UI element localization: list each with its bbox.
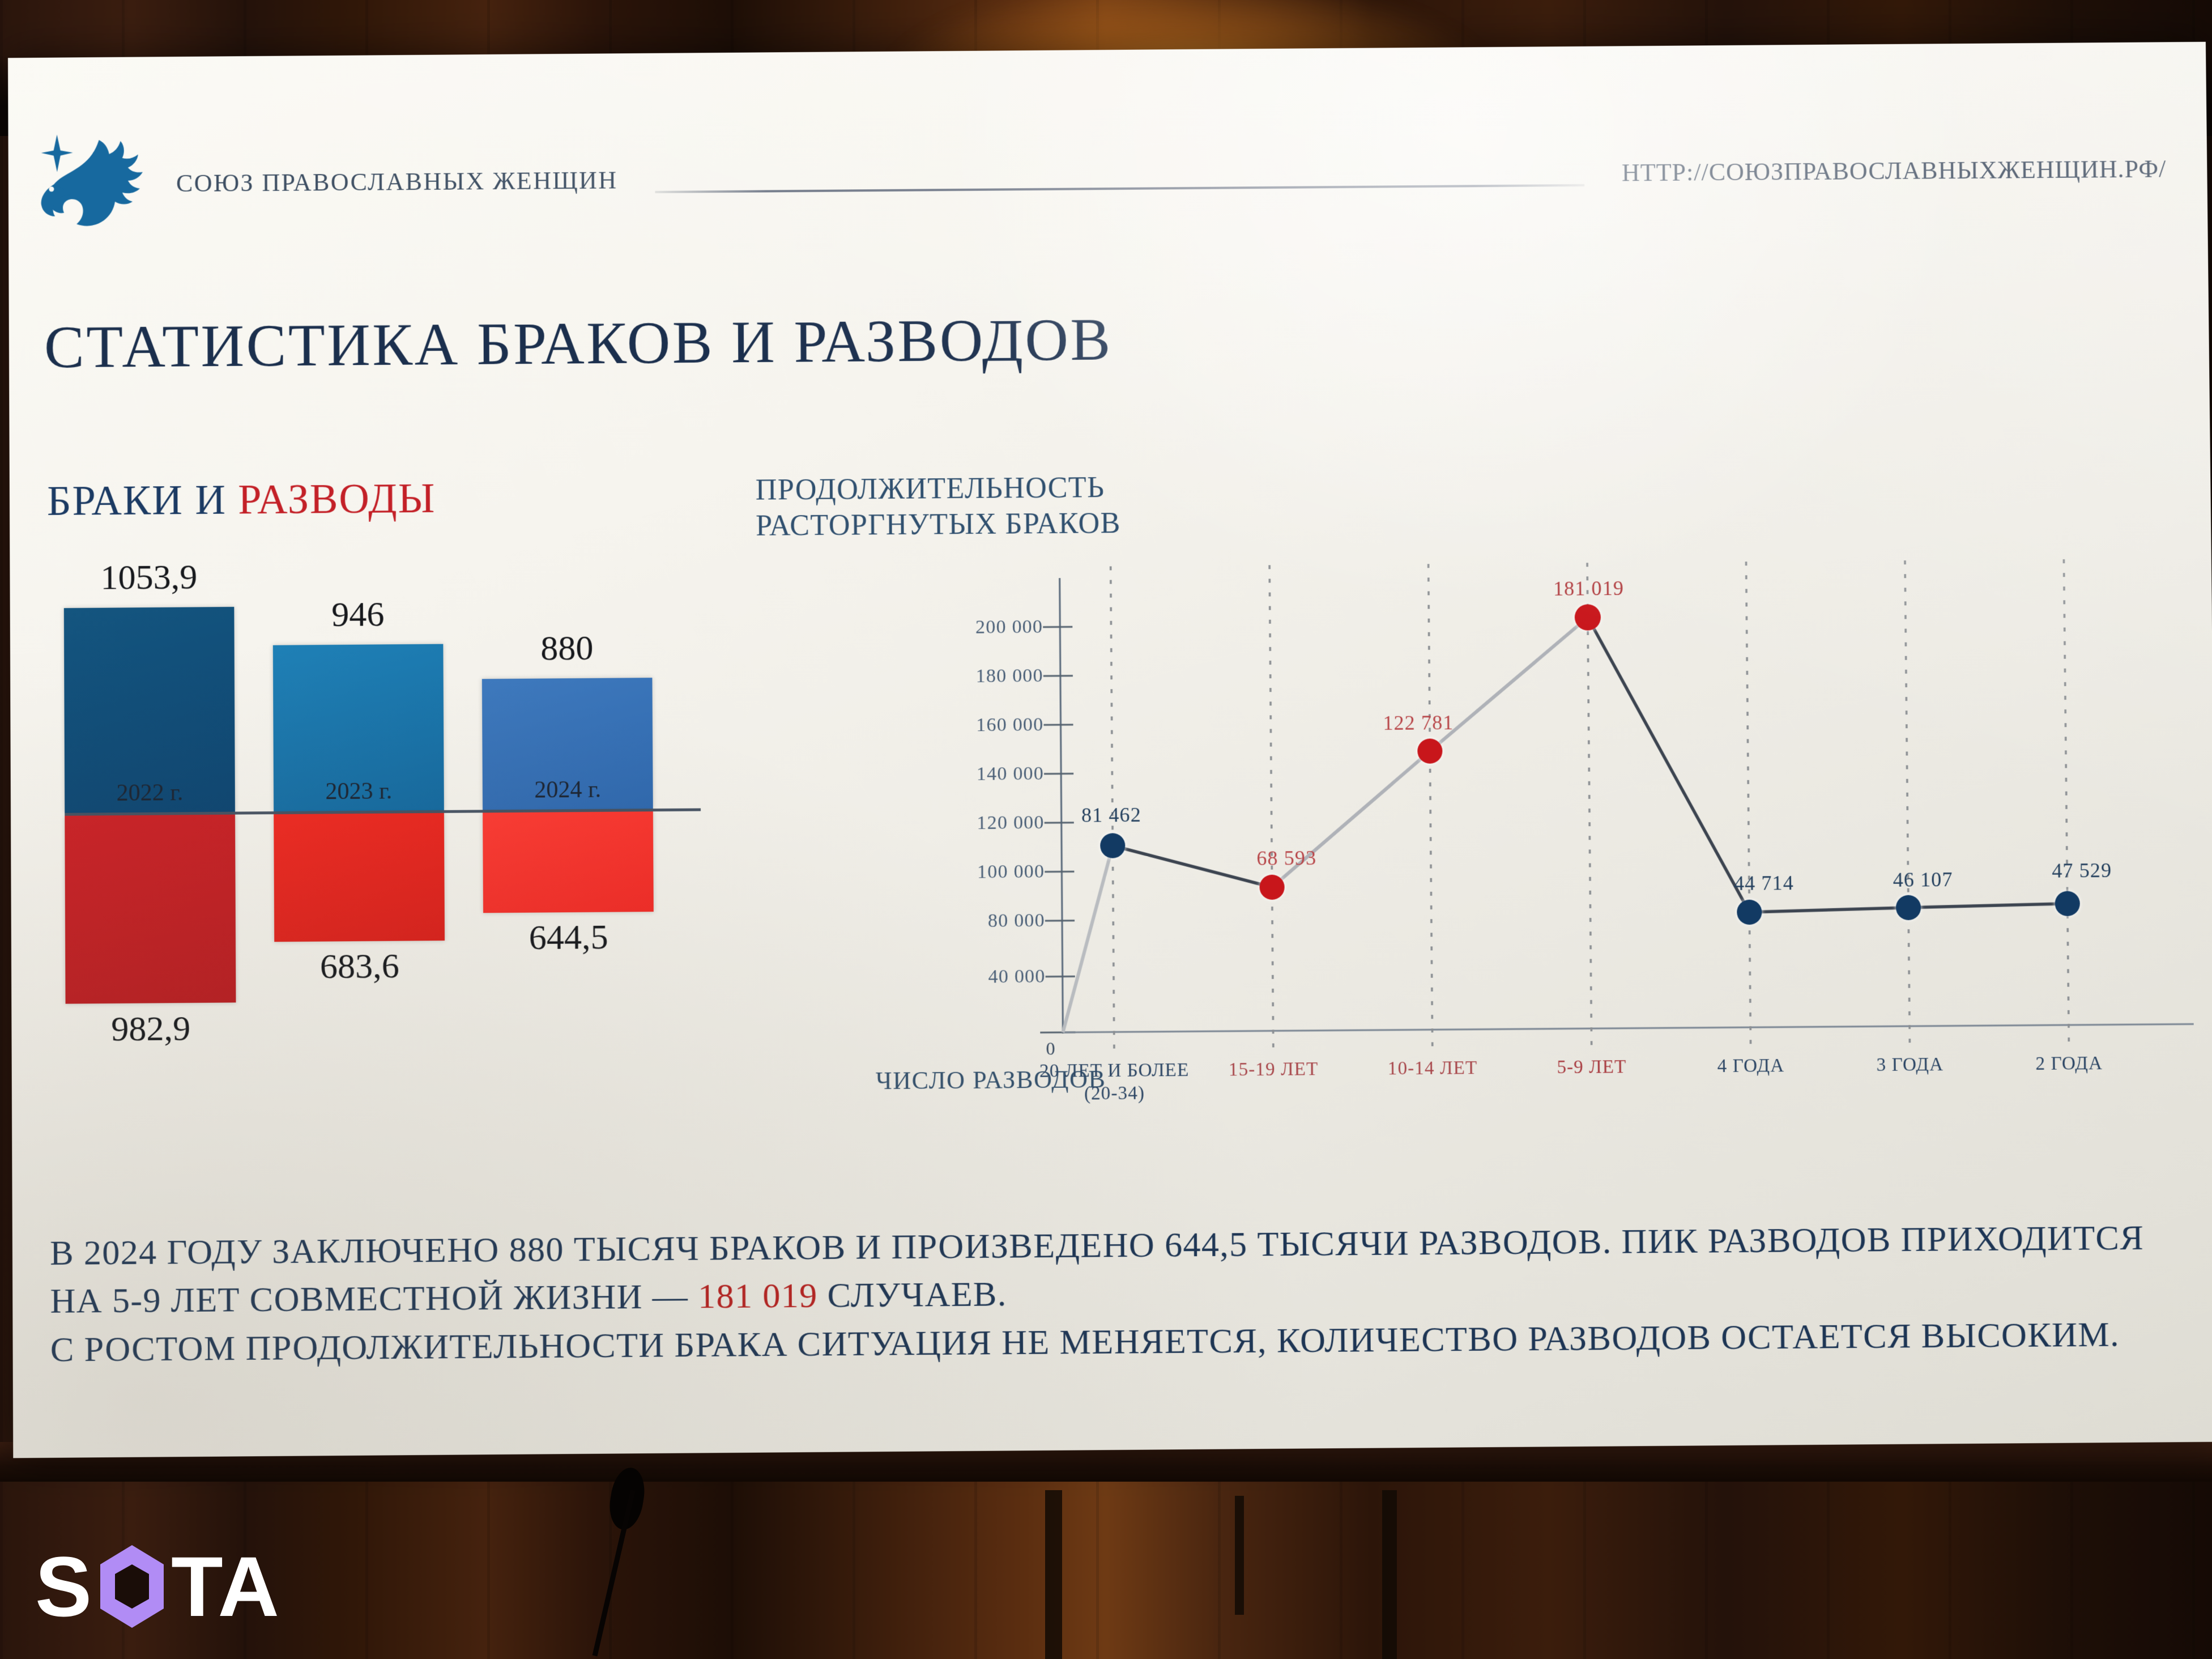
x-label-3-goda: 3 ГОДА (1876, 1053, 1944, 1077)
x-label-5-9-let: 5-9 ЛЕТ (1557, 1056, 1626, 1079)
x-label-2-goda: 2 ГОДА (2035, 1052, 2103, 1075)
bar-divorces-2024 (483, 811, 654, 913)
data-point-4-goda (1737, 900, 1762, 925)
data-point-10-14-let (1417, 738, 1442, 764)
data-point-2-goda (2055, 891, 2080, 916)
data-point-3-goda (1896, 895, 1921, 921)
data-label-10-14-let: 122 781 (1383, 711, 1454, 735)
data-point-20-let-i-bolee (1100, 833, 1125, 858)
projection-screen: СОЮЗ ПРАВОСЛАВНЫХ ЖЕНЩИН HTTP://СОЮЗПРАВ… (8, 42, 2212, 1458)
data-label-4-goda: 44 714 (1734, 871, 1794, 895)
bar-chart-heading: БРАКИ И РАЗВОДЫ (47, 475, 436, 526)
line-chart-plot (872, 547, 2195, 1131)
photo-of-projected-slide: СОЮЗ ПРАВОСЛАВНЫХ ЖЕНЩИН HTTP://СОЮЗПРАВ… (0, 0, 2212, 1659)
bar-value-marriages-2023: 946 (272, 594, 443, 635)
wall-pipe-right (1382, 1490, 1397, 1659)
bar-value-marriages-2022: 1053,9 (63, 557, 234, 598)
data-point-15-19-let (1259, 875, 1284, 900)
data-label-15-19-let: 68 593 (1256, 846, 1316, 870)
sota-letters-ta: TA (171, 1544, 280, 1629)
bar-chart-heading-red: РАЗВОДЫ (238, 475, 436, 524)
x-label-10-14-let: 10-14 ЛЕТ (1388, 1057, 1478, 1081)
marriages-divorces-bar-chart: 1053,9 982,9 946 683,6 880 644,5 2022 г. (64, 564, 702, 1081)
conclusion-text: В 2024 ГОДУ ЗАКЛЮЧЕНО 880 ТЫСЯЧ БРАКОВ И… (50, 1214, 2189, 1374)
data-label-2-goda: 47 529 (2052, 858, 2112, 883)
site-url: HTTP://СОЮЗПРАВОСЛАВНЫХЖЕНЩИН.РФ/ (1622, 154, 2167, 187)
bar-value-divorces-2024: 644,5 (483, 917, 654, 959)
x-label-15-19-let: 15-19 ЛЕТ (1229, 1058, 1319, 1082)
conclusion-segment-3: СЛУЧАЕВ. (817, 1275, 1007, 1315)
bar-axis-label-2024: 2024 г. (483, 776, 653, 804)
x-label-20-let-i-bolee: 20 ЛЕТ И БОЛЕЕ (20-34) (1039, 1059, 1190, 1106)
wall-hook (1235, 1496, 1244, 1615)
line-chart-heading-line2: РАСТОРГНУТЫХ БРАКОВ (756, 505, 1121, 544)
bar-value-divorces-2023: 683,6 (274, 946, 445, 988)
data-label-20-let-i-bolee: 81 462 (1081, 803, 1141, 827)
header-divider (655, 184, 1585, 193)
bar-divorces-2022 (65, 815, 236, 1004)
sota-hexagon-icon (99, 1544, 165, 1629)
bar-axis-label-2022: 2022 г. (65, 779, 235, 807)
x-label-20-let-i-bolee-line2: (20-34) (1039, 1082, 1189, 1105)
x-label-4-goda: 4 ГОДА (1717, 1054, 1784, 1078)
bar-chart-heading-blue: БРАКИ И (47, 477, 238, 525)
slide-content: СОЮЗ ПРАВОСЛАВНЫХ ЖЕНЩИН HTTP://СОЮЗПРАВ… (8, 42, 2212, 1458)
bar-axis-label-2023: 2023 г. (274, 777, 444, 806)
brand-name: СОЮЗ ПРАВОСЛАВНЫХ ЖЕНЩИН (176, 165, 618, 198)
bar-group-2023: 946 683,6 (272, 565, 443, 567)
data-point-5-9-let (1575, 604, 1601, 631)
bar-group-2024: 880 644,5 (481, 564, 651, 565)
conclusion-line-3: С РОСТОМ ПРОДОЛЖИТЕЛЬНОСТИ БРАКА СИТУАЦИ… (50, 1310, 2189, 1374)
divorce-duration-line-chart: 200 000 180 000 160 000 140 000 120 000 … (872, 547, 2195, 1131)
sota-letter-s: S (35, 1544, 93, 1629)
sota-watermark: S TA (35, 1544, 280, 1629)
x-label-20-let-i-bolee-line1: 20 ЛЕТ И БОЛЕЕ (1039, 1059, 1189, 1083)
conclusion-highlight-number: 181 019 (698, 1277, 818, 1316)
bar-divorces-2023 (274, 813, 445, 942)
bar-group-2022: 1053,9 982,9 (64, 567, 235, 568)
dove-star-icon (31, 129, 161, 238)
conclusion-segment-1: В 2024 ГОДУ ЗАКЛЮЧЕНО 880 ТЫСЯЧ БРАКОВ И… (50, 1218, 2144, 1321)
bar-value-divorces-2022: 982,9 (66, 1008, 236, 1050)
bar-value-marriages-2024: 880 (481, 628, 652, 669)
line-chart-heading-line1: ПРОДОЛЖИТЕЛЬНОСТЬ (756, 470, 1121, 508)
slide-header: СОЮЗ ПРАВОСЛАВНЫХ ЖЕНЩИН HTTP://СОЮЗПРАВ… (8, 114, 2207, 239)
data-label-5-9-let: 181 019 (1553, 576, 1624, 601)
line-chart-heading: ПРОДОЛЖИТЕЛЬНОСТЬ РАСТОРГНУТЫХ БРАКОВ (756, 470, 1121, 545)
data-label-3-goda: 46 107 (1893, 867, 1953, 892)
wall-pipe-left (1045, 1490, 1062, 1659)
page-title: СТАТИСТИКА БРАКОВ И РАЗВОДОВ (44, 305, 1113, 382)
